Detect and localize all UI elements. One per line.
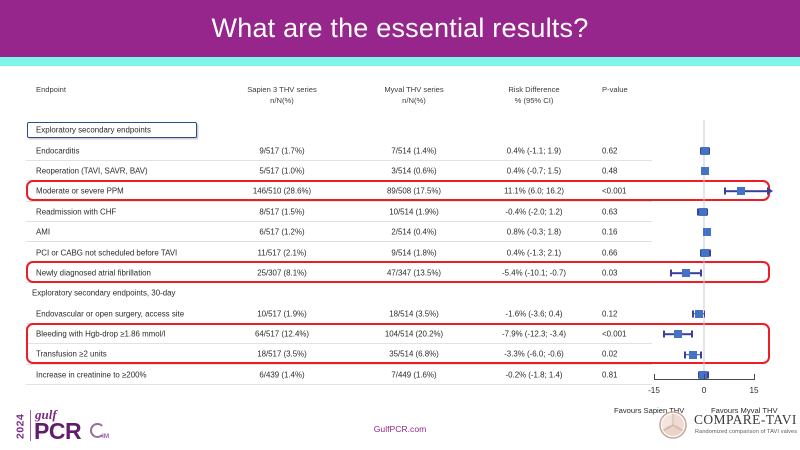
cell-endpoint: Transfusion ≥2 units (36, 350, 107, 359)
effect-estimate-marker (682, 269, 690, 277)
cell-myval: 7/449 (1.6%) (362, 370, 466, 379)
cell-endpoint: Exploratory secondary endpoints, 30-day (32, 289, 175, 298)
ci-cap-low (684, 351, 686, 358)
cell-rd: -5.4% (-10.1; -0.7) (478, 268, 590, 277)
header-accent-strip (0, 57, 800, 66)
column-header-risk-difference: Risk Difference% (95% CI) (478, 84, 590, 106)
cell-sapien: 25/307 (8.1%) (228, 268, 336, 277)
forest-point-row (630, 222, 778, 242)
column-header-myval: Myval THV seriesn/N(%) (362, 84, 466, 106)
column-header-sapien-sub: n/N(%) (270, 96, 294, 105)
logo-pcr-label: PCR (34, 418, 81, 445)
ci-cap-low (663, 331, 665, 338)
cell-sapien: 10/517 (1.9%) (228, 309, 336, 318)
cell-endpoint: Newly diagnosed atrial fibrillation (36, 268, 151, 277)
forest-point-row (630, 140, 778, 160)
confidence-interval-line (724, 191, 768, 193)
cell-rd: 0.4% (-0.7; 1.5) (478, 166, 590, 175)
cell-sapien: 6/439 (1.4%) (228, 370, 336, 379)
cell-endpoint: Moderate or severe PPM (36, 187, 124, 196)
effect-estimate-marker (689, 351, 697, 359)
ci-cap-low (692, 310, 694, 317)
cell-sapien: 5/517 (1.0%) (228, 166, 336, 175)
effect-estimate-marker (701, 249, 709, 257)
column-header-myval-sub: n/N(%) (402, 96, 426, 105)
column-header-sapien: Sapien 3 THV seriesn/N(%) (228, 84, 336, 106)
cell-rd: 0.4% (-1.3; 2.1) (478, 248, 590, 257)
effect-estimate-marker (737, 187, 745, 195)
axis-tick-label: 15 (749, 386, 758, 395)
column-header-endpoint: Endpoint (36, 84, 66, 95)
logo-divider (30, 410, 31, 441)
forest-axis-labels: -15015 (630, 386, 778, 398)
cell-sapien: 18/517 (3.5%) (228, 350, 336, 359)
cell-rd: 0.4% (-1.1; 1.9) (478, 146, 590, 155)
cell-endpoint: Endovascular or open surgery, access sit… (36, 309, 184, 318)
page-title: What are the essential results? (0, 0, 800, 57)
cell-sapien: 6/517 (1.2%) (228, 228, 336, 237)
cell-rd: -0.4% (-2.0; 1.2) (478, 207, 590, 216)
cell-myval: 3/514 (0.6%) (362, 166, 466, 175)
ci-cap-high (700, 351, 702, 358)
ci-cap-high (704, 310, 706, 317)
column-header-sapien-label: Sapien 3 THV series (247, 85, 317, 94)
effect-estimate-marker (695, 310, 703, 318)
cell-sapien: 64/517 (12.4%) (228, 330, 336, 339)
gulfpcr-logo: 2024 gulf PCR IM (14, 404, 142, 444)
effect-estimate-marker (701, 147, 709, 155)
cell-rd: 11.1% (6.0; 16.2) (478, 187, 590, 196)
effect-estimate-marker (701, 167, 709, 175)
cell-rd: 0.8% (-0.3; 1.8) (478, 228, 590, 237)
column-header-rd-label: Risk Difference (508, 85, 559, 94)
ci-cap-high (709, 249, 711, 256)
cell-endpoint: Readmission with CHF (36, 207, 116, 216)
cell-myval: 47/347 (13.5%) (362, 268, 466, 277)
cell-sapien: 11/517 (2.1%) (228, 248, 336, 257)
forest-point-row (630, 181, 778, 201)
cell-myval: 104/514 (20.2%) (362, 330, 466, 339)
ci-cap-high (700, 269, 702, 276)
forest-plot: -15015 Favours Sapien THV Favours Myval … (630, 78, 778, 378)
ci-cap-high (691, 331, 693, 338)
forest-point-row (630, 202, 778, 222)
axis-tick-label: -15 (648, 386, 660, 395)
cell-myval: 2/514 (0.4%) (362, 228, 466, 237)
forest-point-row (630, 263, 778, 283)
forest-point-row (630, 324, 778, 344)
column-header-myval-label: Myval THV series (384, 85, 443, 94)
cell-rd: -7.9% (-12.3; -3.4) (478, 330, 590, 339)
slide: What are the essential results? Endpoint… (0, 0, 800, 450)
compare-tavi-subtitle: Randomized comparison of TAVI valves (695, 429, 797, 435)
cell-sapien: 146/510 (28.6%) (228, 187, 336, 196)
axis-tick (704, 374, 705, 380)
cell-myval: 18/514 (3.5%) (362, 309, 466, 318)
axis-tick (754, 374, 755, 380)
compare-tavi-title: COMPARE-TAVI (694, 412, 797, 428)
ci-cap-low (724, 188, 726, 195)
cell-myval: 35/514 (6.8%) (362, 350, 466, 359)
forest-point-row (630, 242, 778, 262)
cell-endpoint: AMI (36, 228, 50, 237)
cell-endpoint: Reoperation (TAVI, SAVR, BAV) (36, 166, 148, 175)
cell-myval: 10/514 (1.9%) (362, 207, 466, 216)
forest-point-row (630, 161, 778, 181)
section-label-text: Exploratory secondary endpoints (36, 126, 151, 135)
axis-tick-label: 0 (702, 386, 707, 395)
forest-point-row (630, 304, 778, 324)
effect-estimate-marker (703, 228, 711, 236)
cell-myval: 89/508 (17.5%) (362, 187, 466, 196)
cell-sapien: 9/517 (1.7%) (228, 146, 336, 155)
cell-myval: 9/514 (1.8%) (362, 248, 466, 257)
effect-estimate-marker (674, 330, 682, 338)
forest-axis (630, 374, 778, 386)
cell-endpoint: Increase in creatinine to ≥200% (36, 370, 146, 379)
axis-tick (654, 374, 655, 380)
cell-endpoint: Bleeding with Hgb-drop ≥1.86 mmol/l (36, 330, 165, 339)
cell-rd: -1.6% (-3.6; 0.4) (478, 309, 590, 318)
cell-endpoint: Endocarditis (36, 146, 79, 155)
cell-sapien: 8/517 (1.5%) (228, 207, 336, 216)
row-separator (26, 384, 652, 385)
column-header-rd-sub: % (95% CI) (515, 96, 554, 105)
forest-point-row (630, 344, 778, 364)
logo-year-label: 2024 (14, 410, 27, 442)
cell-endpoint: PCI or CABG not scheduled before TAVI (36, 248, 177, 257)
effect-estimate-marker (699, 208, 707, 216)
compare-tavi-logo: COMPARE-TAVI Randomized comparison of TA… (658, 406, 798, 446)
heart-valve-icon (658, 410, 688, 440)
cell-rd: -3.3% (-6.0; -0.6) (478, 350, 590, 359)
ci-arrow-high (767, 187, 773, 195)
logo-im-label: IM (102, 433, 109, 440)
cell-rd: -0.2% (-1.8; 1.4) (478, 370, 590, 379)
ci-cap-low (670, 269, 672, 276)
column-header-pvalue: P-value (602, 84, 628, 95)
cell-myval: 7/514 (1.4%) (362, 146, 466, 155)
